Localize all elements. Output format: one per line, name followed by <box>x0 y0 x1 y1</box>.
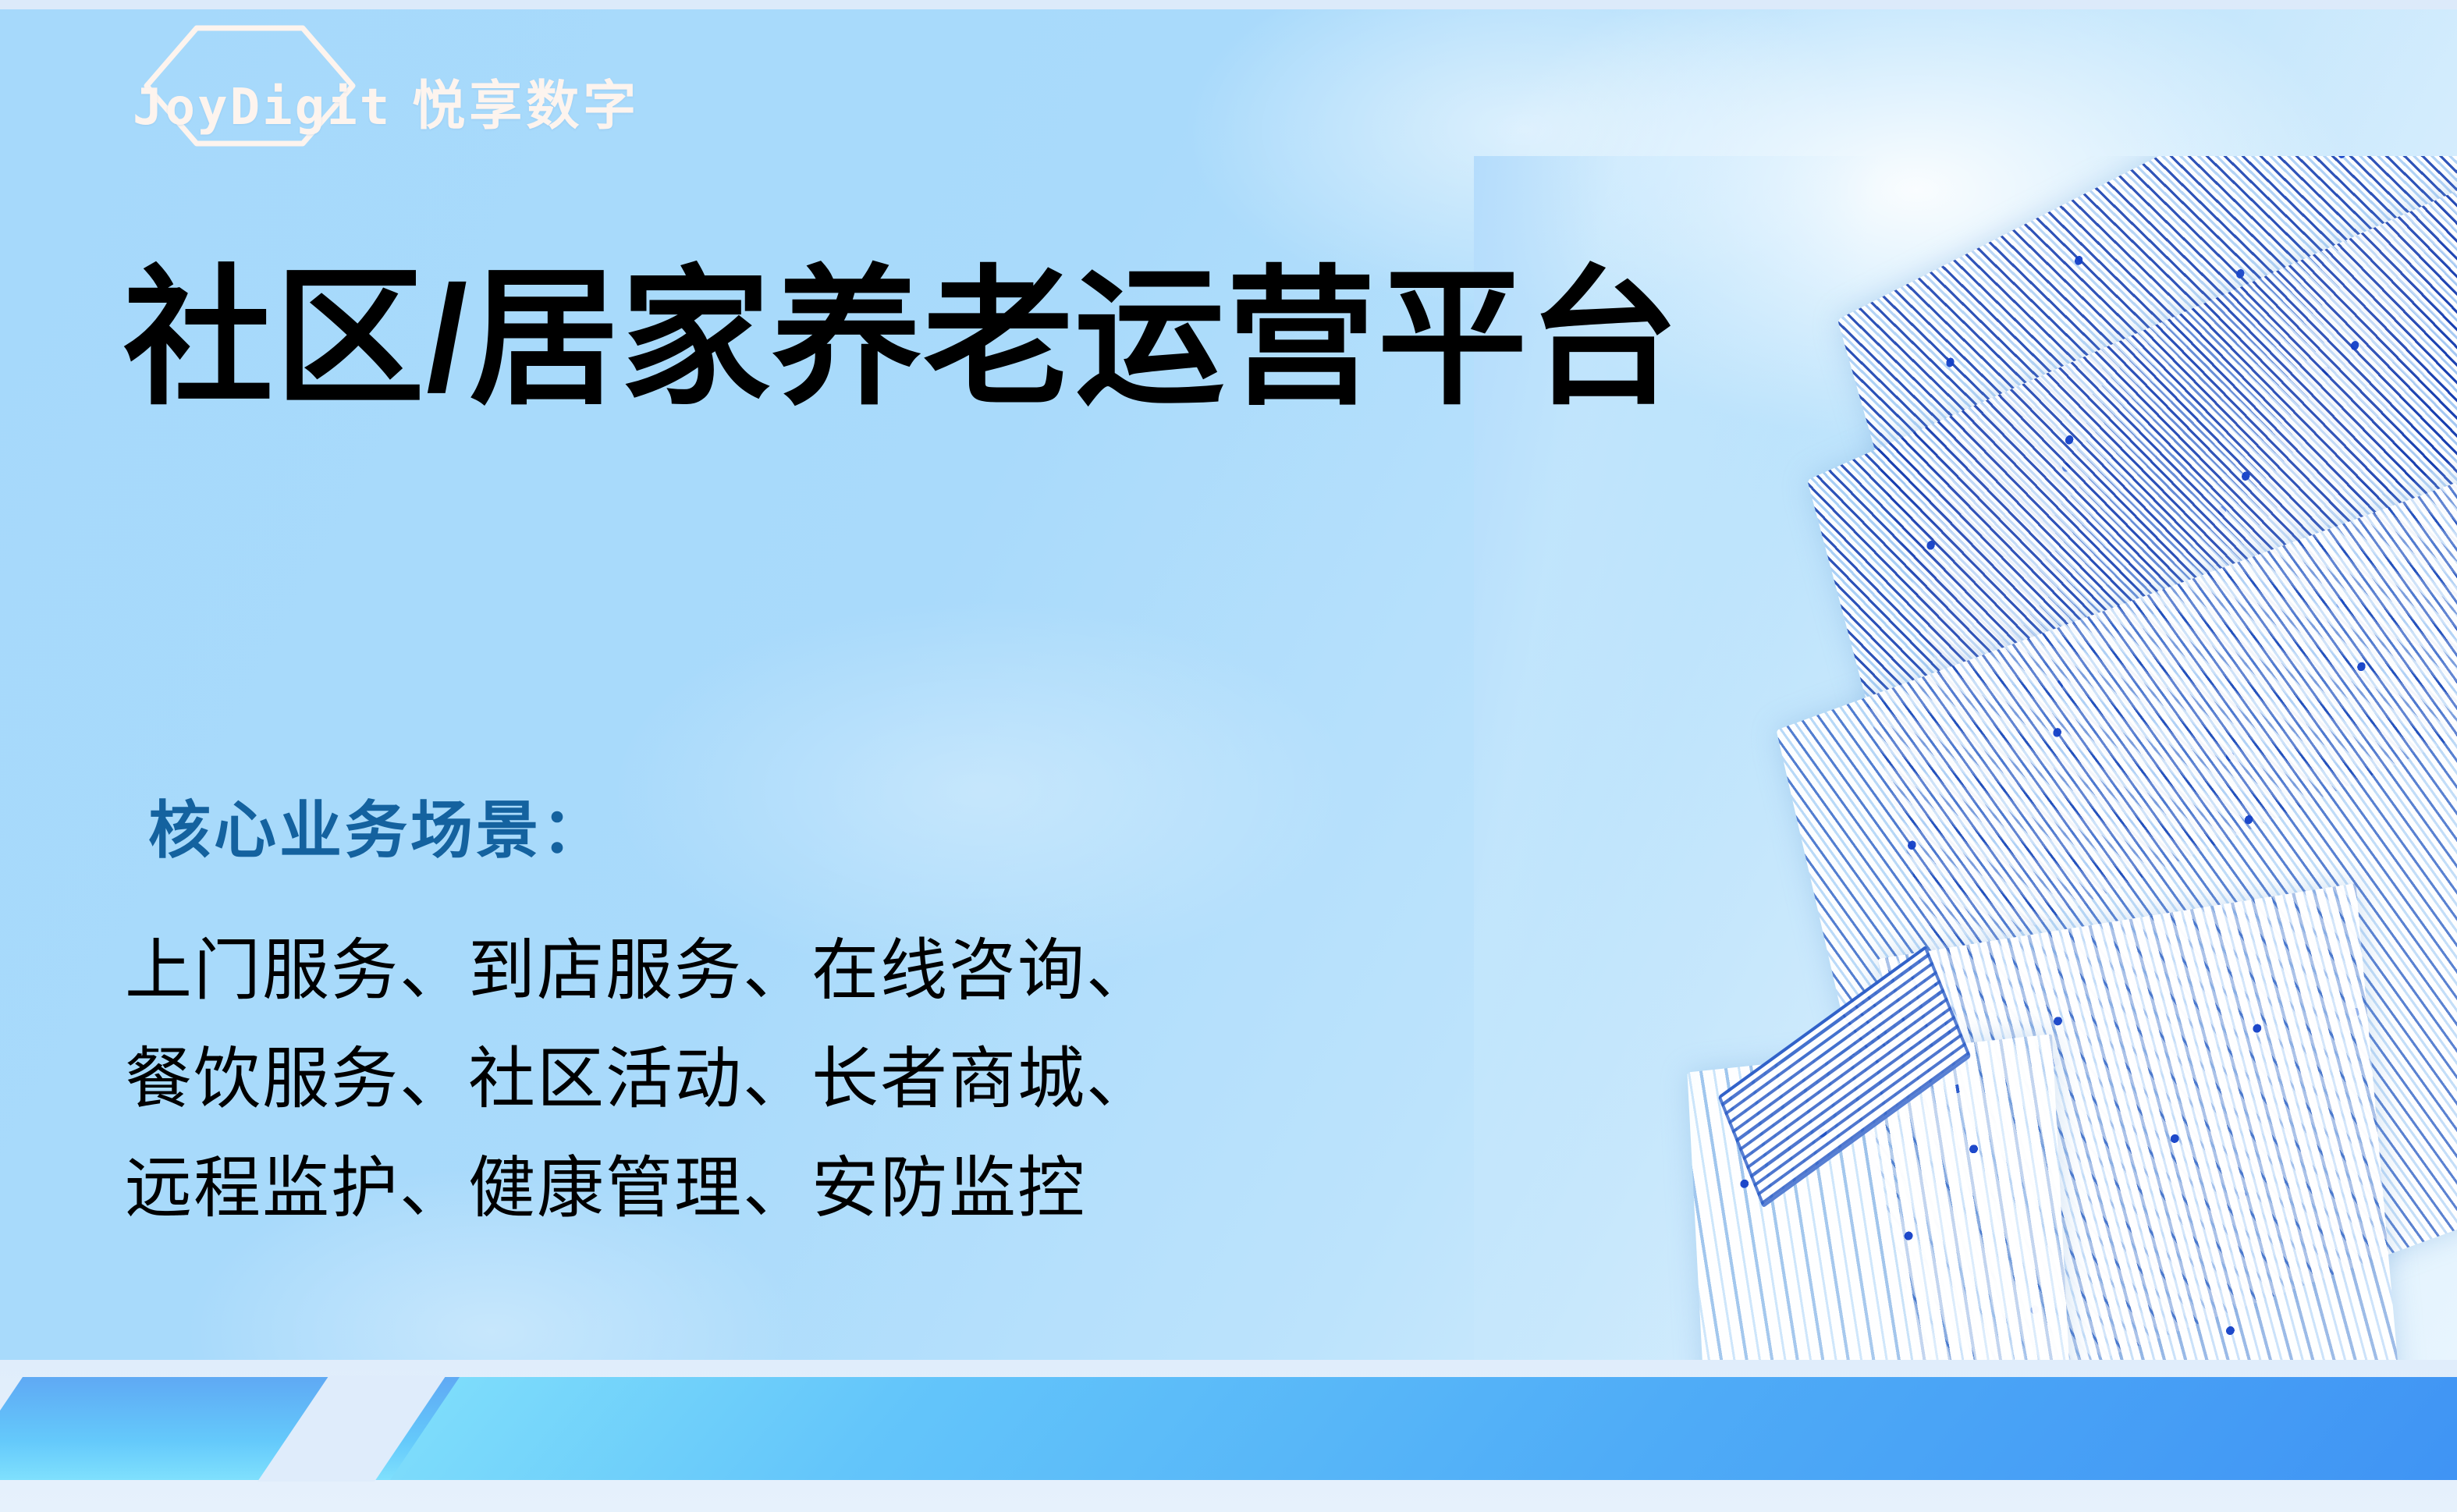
bottom-decoration <box>0 1360 2457 1512</box>
logo-cjk-text: 悦享数字 <box>412 62 640 140</box>
brand-logo: JoyDigit 悦享数字 <box>133 39 585 133</box>
top-edge-strip <box>0 0 2457 9</box>
slide-canvas: JoyDigit 悦享数字 社区/居家养老运营平台 核心业务场景： 上门服务、到… <box>0 0 2457 1512</box>
section-heading: 核心业务场景： <box>148 780 607 871</box>
logo-wordmark: JoyDigit 悦享数字 <box>133 62 640 140</box>
logo-latin-text: JoyDigit <box>133 79 392 137</box>
scenario-list: 上门服务、到店服务、在线咨询、 餐饮服务、社区活动、长者商城、 远程监护、健康管… <box>125 917 1155 1243</box>
scenario-line-2: 餐饮服务、社区活动、长者商城、 <box>125 1025 1155 1134</box>
scenario-line-3: 远程监护、健康管理、安防监控 <box>125 1134 1155 1243</box>
scenario-line-1: 上门服务、到店服务、在线咨询、 <box>125 917 1155 1025</box>
page-title: 社区/居家养老运营平台 <box>123 257 1680 419</box>
bottom-band-right <box>390 1377 2457 1480</box>
